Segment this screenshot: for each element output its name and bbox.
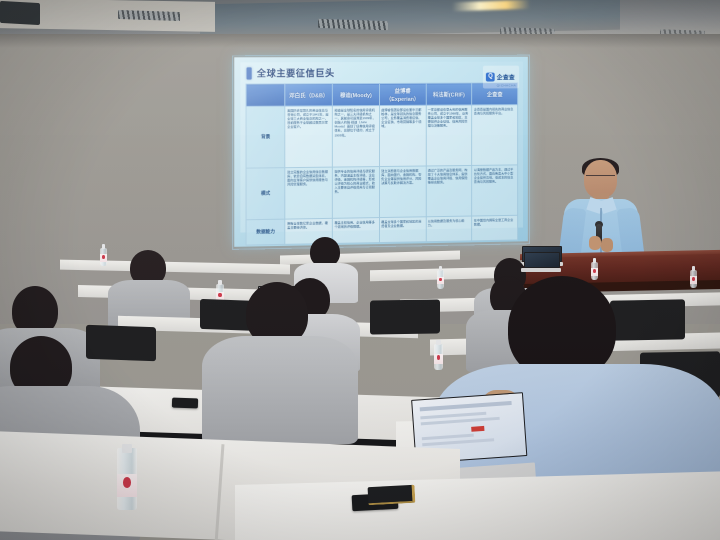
cell-background-dnb: 美国历史最悠久的商业信息与咨询公司，成立于1841年，是全球三大商业信息机构之一… xyxy=(285,106,332,168)
bottle-logo-icon xyxy=(102,255,105,259)
bottle-cap xyxy=(102,244,105,249)
attendee-torso xyxy=(202,336,358,444)
wall-shadow xyxy=(0,34,720,48)
table-row: 背景 美国历史最悠久的商业信息与咨询公司，成立于1841年，是全球三大商业信息机… xyxy=(246,105,518,168)
logo-mark-icon: Q xyxy=(486,73,495,82)
cell-text: 拥有全球数亿家企业数据，覆盖主要经济体。 xyxy=(287,221,330,230)
column-header-crif: 科法斯(CRIF) xyxy=(426,83,472,105)
chair[interactable] xyxy=(370,299,440,334)
water-bottle[interactable] xyxy=(117,444,137,510)
bottle-logo-icon xyxy=(439,278,442,282)
cell-text: 企查查是国内领先的商业信息查询与风控服务平台。 xyxy=(474,107,516,115)
cell-background-qichacha: 企查查是国内领先的商业信息查询与风控服务平台。 xyxy=(472,105,518,166)
attendee xyxy=(214,282,344,432)
slide-header: 全球主要征信巨头 Q 企查查 QICHACHA xyxy=(240,62,523,84)
laptop-base xyxy=(521,268,560,272)
bottle-logo-icon xyxy=(593,269,596,273)
column-header-moody: 穆迪(Moody) xyxy=(332,84,379,106)
presenter-hand-left xyxy=(589,236,601,250)
cell-text: 美国历史最悠久的商业信息与咨询公司，成立于1841年，是全球三大商业信息机构之一… xyxy=(287,108,330,129)
cell-background-crif: 一家总部设在意大利的信用服务公司，成立于1988年，业务覆盖全球多个国家和地区，… xyxy=(426,105,472,166)
water-bottle[interactable] xyxy=(437,266,444,289)
projection-screen[interactable]: 全球主要征信巨头 Q 企查查 QICHACHA 邓白氏（D&B） 穆迪(Mood… xyxy=(234,57,528,247)
cell-model-crif: 通过广泛的产品及服务网，构建了十大信用信息体系，提供覆盖企业信用评级、信用保险等… xyxy=(426,165,472,216)
slide-title: 全球主要征信巨头 xyxy=(257,66,335,79)
row-label-background: 背景 xyxy=(246,106,285,168)
bottle-logo-icon xyxy=(437,355,441,360)
conference-room-photo: 全球主要征信巨头 Q 企查查 QICHACHA 邓白氏（D&B） 穆迪(Mood… xyxy=(0,0,720,540)
logo-text: 企查查 xyxy=(497,76,515,82)
cell-text: 以海量数据产品为主，通过平台化方式，面向各类大中小型企业提供高效、低成本的信息查… xyxy=(474,167,516,184)
row-label-data-capability: 数据能力 xyxy=(246,219,285,245)
attendee xyxy=(112,250,186,322)
water-bottle[interactable] xyxy=(434,340,443,370)
cell-text: 通过广泛的产品及服务网，构建了十大信用信息体系，提供覆盖企业信用评级、信用保险等… xyxy=(428,168,470,185)
column-header-experian: 益博睿（Experian） xyxy=(379,83,425,105)
bottle-cap xyxy=(593,258,596,263)
laptop-screen xyxy=(524,252,560,268)
title-accent-bar xyxy=(247,67,252,79)
cell-text: 覆盖全球多个国家和地区的消费者及企业数据。 xyxy=(381,219,424,228)
bottle-cap xyxy=(122,444,132,453)
cell-model-qichacha: 以海量数据产品为主，通过平台化方式，面向各类大中小型企业提供高效、低成本的信息查… xyxy=(472,165,518,216)
bottle-logo-icon xyxy=(123,477,131,488)
glasses-icon xyxy=(586,175,615,182)
cell-model-moody: 提供专业的信用评级与研究服务，内容涵盖主权评级、企业评级、金融机构评级等，形成以… xyxy=(332,167,379,219)
cell-data-experian: 覆盖全球多个国家和地区的消费者及企业数据。 xyxy=(379,217,425,243)
water-bottle[interactable] xyxy=(100,244,107,266)
brand-logo: Q 企查查 QICHACHA xyxy=(483,66,519,89)
phone[interactable] xyxy=(172,398,198,409)
laptop[interactable] xyxy=(524,252,558,272)
cell-text: 在中国境内拥有全量工商企业数据。 xyxy=(474,218,516,227)
ceiling-corner-fixture xyxy=(0,1,40,25)
cell-data-crif: 以信用数据及服务为核心能力。 xyxy=(426,216,472,242)
cell-background-moody: 穆迪是全球知名的信用评级机构之一，是三大评级机构之一，其前身可追溯至1909年，… xyxy=(332,106,379,168)
row-label-model: 模式 xyxy=(246,168,285,220)
table-header-row: 邓白氏（D&B） 穆迪(Moody) 益博睿（Experian） 科法斯(CRI… xyxy=(246,83,518,106)
comparison-table: 邓白氏（D&B） 穆迪(Moody) 益博睿（Experian） 科法斯(CRI… xyxy=(246,82,519,245)
bottle-cap xyxy=(692,266,695,271)
logo-subtext: QICHACHA xyxy=(497,84,516,87)
table-row: 数据能力 拥有全球数亿家企业数据，覆盖主要经济体。 覆盖主权信用、企业信用等多个… xyxy=(246,215,518,245)
table-corner-header xyxy=(246,84,285,106)
table-row: 模式 建立完整的企业信用信息数据库，依靠自有数据采集体系，面向全球客户提供信用报… xyxy=(246,165,518,220)
cell-text: 建立消费者与企业信用数据库，面向银行、金融机构、零售企业等提供信用评分、风险决策… xyxy=(381,169,424,186)
cell-background-experian: 益博睿集团总部设在爱尔兰都柏林，是全球领先的信息服务公司，业务覆盖消费者征信、企… xyxy=(379,105,425,166)
cell-text: 益博睿集团总部设在爱尔兰都柏林，是全球领先的信息服务公司，业务覆盖消费者征信、企… xyxy=(381,108,424,129)
cell-text: 覆盖主权信用、企业信用等多个领域的评级数据。 xyxy=(334,220,377,229)
cell-model-dnb: 建立完整的企业信用信息数据库，依靠自有数据采集体系，面向全球客户提供信用报告与风… xyxy=(285,167,332,219)
cell-text: 一家总部设在意大利的信用服务公司，成立于1988年，业务覆盖全球多个国家和地区，… xyxy=(428,107,470,128)
cell-model-experian: 建立消费者与企业信用数据库，面向银行、金融机构、零售企业等提供信用评分、风险决策… xyxy=(379,166,425,218)
cell-text: 穆迪是全球知名的信用评级机构之一，是三大评级机构之一，其前身可追溯至1909年，… xyxy=(334,108,377,137)
presenter-hand-right xyxy=(601,238,613,252)
presentation-slide: 全球主要征信巨头 Q 企查查 QICHACHA 邓白氏（D&B） 穆迪(Mood… xyxy=(240,62,523,233)
cell-text: 提供专业的信用评级与研究服务，内容涵盖主权评级、企业评级、金融机构评级等，形成以… xyxy=(334,169,377,194)
bottle-cap xyxy=(439,266,442,271)
column-header-dnb: 邓白氏（D&B） xyxy=(285,84,332,106)
cell-text: 建立完整的企业信用信息数据库，依靠自有数据采集体系，面向全球客户提供信用报告与风… xyxy=(287,170,330,187)
cell-data-qichacha: 在中国境内拥有全量工商企业数据。 xyxy=(472,215,518,241)
notebook[interactable] xyxy=(368,485,416,505)
cell-text: 以信用数据及服务为核心能力。 xyxy=(428,219,470,228)
bottle-cap xyxy=(436,340,440,345)
